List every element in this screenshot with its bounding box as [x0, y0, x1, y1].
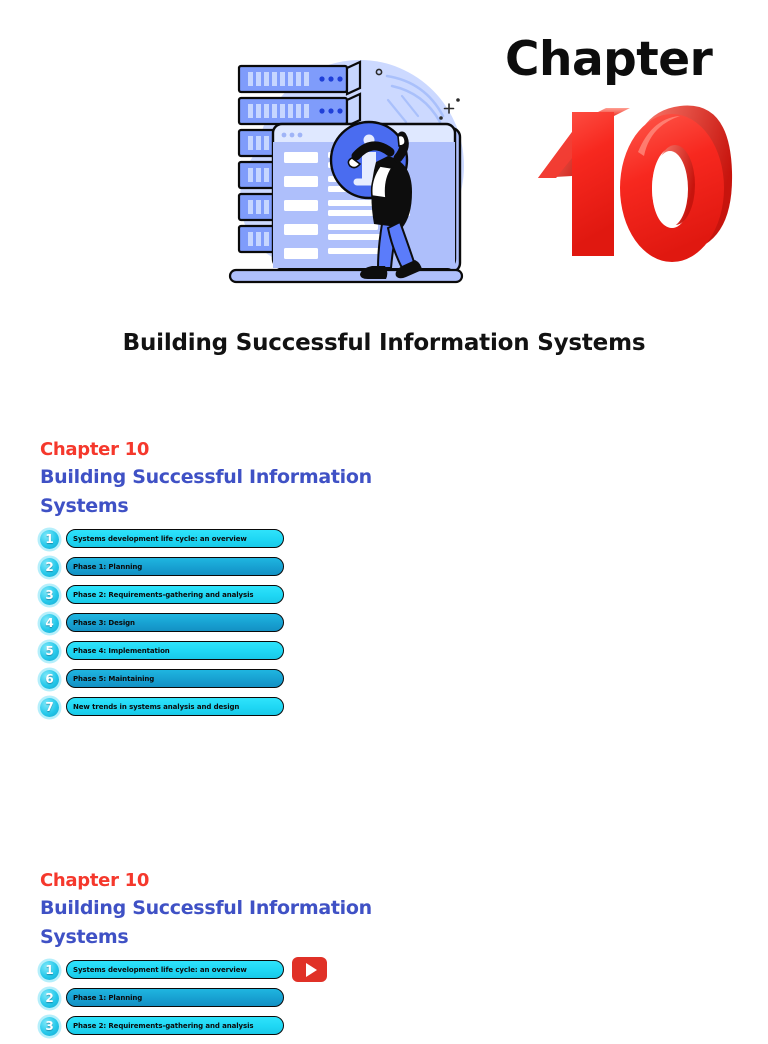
agenda-title: Building Successful Information Systems	[40, 463, 380, 521]
agenda-pill[interactable]: Phase 1: Planning	[66, 557, 284, 576]
agenda-title: Building Successful Information Systems	[40, 894, 380, 952]
server-data-management-illustration	[212, 48, 482, 306]
agenda-list: 1 Systems development life cycle: an ove…	[40, 960, 460, 1044]
agenda-kicker: Chapter 10	[40, 871, 460, 892]
agenda-list: 1 Systems development life cycle: an ove…	[40, 529, 460, 725]
step-number-badge: 6	[40, 670, 59, 689]
agenda-pill[interactable]: Phase 2: Requirements-gathering and anal…	[66, 1016, 284, 1035]
list-item[interactable]: 3 Phase 2: Requirements-gathering and an…	[40, 1016, 460, 1044]
agenda-slide-repeat: Chapter 10 Building Successful Informati…	[40, 871, 460, 1044]
list-item[interactable]: 2 Phase 1: Planning	[40, 557, 460, 585]
agenda-pill[interactable]: Phase 5: Maintaining	[66, 669, 284, 688]
step-number-badge: 2	[40, 558, 59, 577]
agenda-pill[interactable]: Phase 2: Requirements-gathering and anal…	[66, 585, 284, 604]
step-number-badge: 2	[40, 989, 59, 1008]
step-number-badge: 3	[40, 586, 59, 605]
cover-chapter-word: Chapter	[505, 32, 712, 87]
step-number-badge: 3	[40, 1017, 59, 1036]
cover-chapter-number	[512, 92, 740, 297]
list-item[interactable]: 4 Phase 3: Design	[40, 613, 460, 641]
agenda-slide-primary: Chapter 10 Building Successful Informati…	[40, 440, 460, 725]
cover-subtitle: Building Successful Information Systems	[0, 330, 768, 356]
youtube-play-button[interactable]	[292, 957, 327, 982]
list-item[interactable]: 1 Systems development life cycle: an ove…	[40, 960, 460, 988]
list-item[interactable]: 1 Systems development life cycle: an ove…	[40, 529, 460, 557]
agenda-pill[interactable]: Systems development life cycle: an overv…	[66, 960, 284, 979]
step-number-badge: 5	[40, 642, 59, 661]
chapter-cover: Chapter	[0, 0, 768, 380]
agenda-pill[interactable]: Phase 3: Design	[66, 613, 284, 632]
step-number-badge: 4	[40, 614, 59, 633]
list-item[interactable]: 7 New trends in systems analysis and des…	[40, 697, 460, 725]
list-item[interactable]: 3 Phase 2: Requirements-gathering and an…	[40, 585, 460, 613]
agenda-pill[interactable]: New trends in systems analysis and desig…	[66, 697, 284, 716]
step-number-badge: 1	[40, 530, 59, 549]
agenda-pill[interactable]: Systems development life cycle: an overv…	[66, 529, 284, 548]
step-number-badge: 1	[40, 961, 59, 980]
agenda-pill[interactable]: Phase 1: Planning	[66, 988, 284, 1007]
list-item[interactable]: 6 Phase 5: Maintaining	[40, 669, 460, 697]
step-number-badge: 7	[40, 698, 59, 717]
agenda-pill[interactable]: Phase 4: Implementation	[66, 641, 284, 660]
agenda-kicker: Chapter 10	[40, 440, 460, 461]
list-item[interactable]: 2 Phase 1: Planning	[40, 988, 460, 1016]
list-item[interactable]: 5 Phase 4: Implementation	[40, 641, 460, 669]
play-icon	[306, 963, 317, 977]
